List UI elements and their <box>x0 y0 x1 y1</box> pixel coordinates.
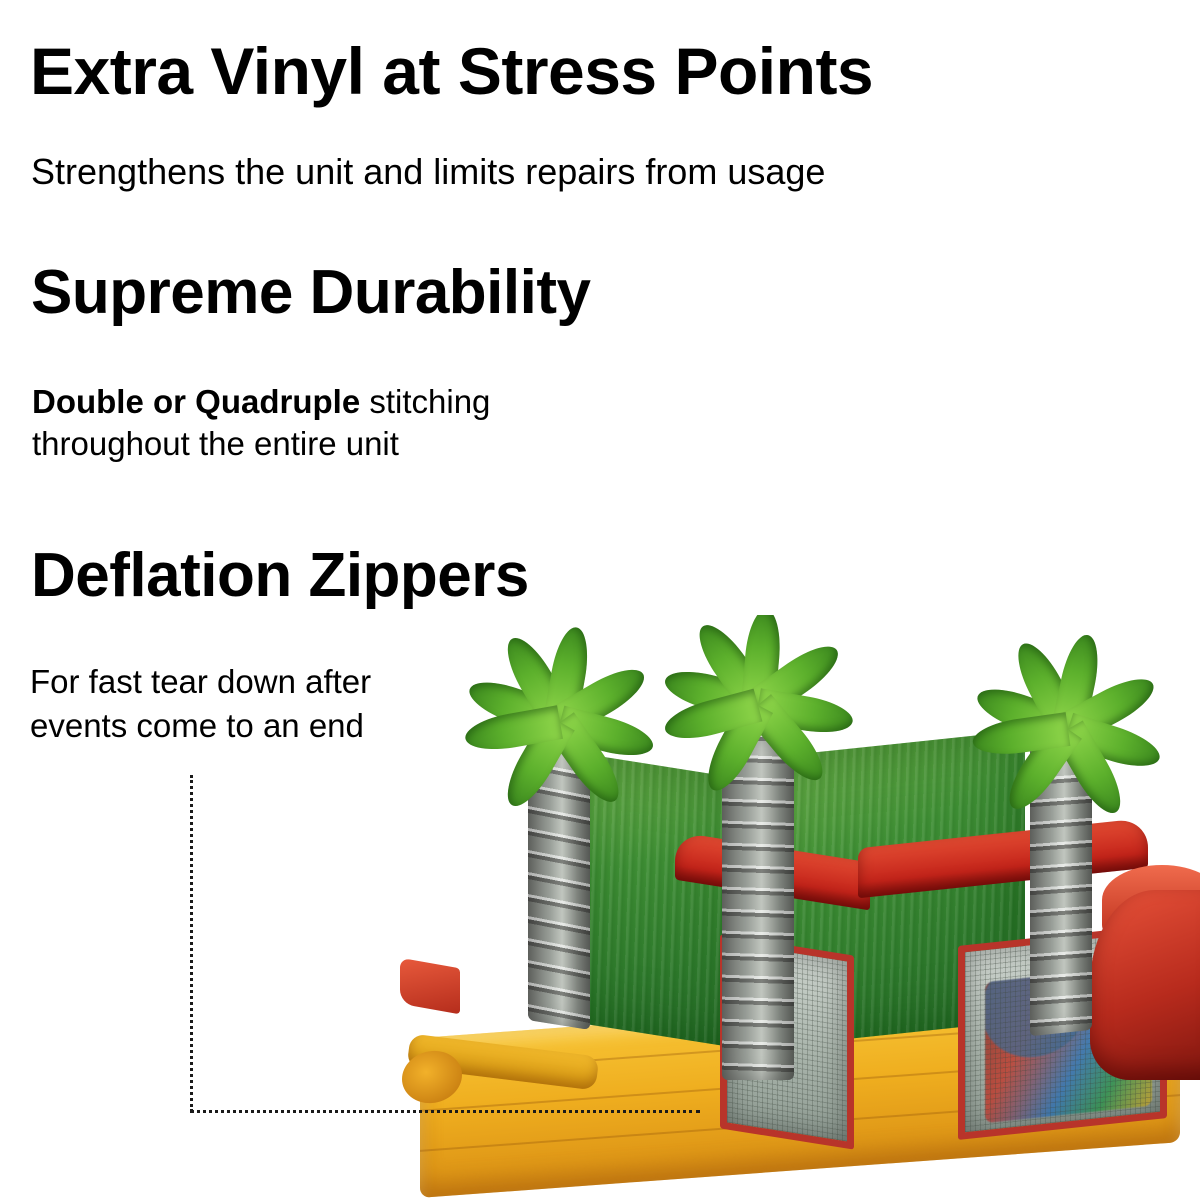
subtitle-line1-fast-tear-down: For fast tear down after <box>30 663 371 700</box>
feature-callout-page: Extra Vinyl at Stress Points Strengthens… <box>0 0 1200 1200</box>
feature-subtitle-extra-vinyl: Strengthens the unit and limits repairs … <box>31 152 825 192</box>
callout-line-vertical <box>190 775 193 1112</box>
callout-line-horizontal <box>190 1110 700 1113</box>
feature-text-layer: Extra Vinyl at Stress Points Strengthens… <box>0 0 1200 1200</box>
subtitle-emphasis-double-quadruple: Double or Quadruple <box>32 383 360 420</box>
feature-title-deflation-zippers: Deflation Zippers <box>31 545 529 607</box>
feature-title-extra-vinyl: Extra Vinyl at Stress Points <box>30 38 873 104</box>
subtitle-rest-stitching: stitching <box>360 383 490 420</box>
feature-title-supreme-durability: Supreme Durability <box>31 262 590 324</box>
subtitle-line2-events-end: events come to an end <box>30 707 364 744</box>
feature-subtitle-supreme-durability: Double or Quadruple stitchingthroughout … <box>32 381 732 465</box>
subtitle-line2-throughout-unit: throughout the entire unit <box>32 425 399 462</box>
feature-subtitle-deflation-zippers: For fast tear down afterevents come to a… <box>30 660 590 747</box>
